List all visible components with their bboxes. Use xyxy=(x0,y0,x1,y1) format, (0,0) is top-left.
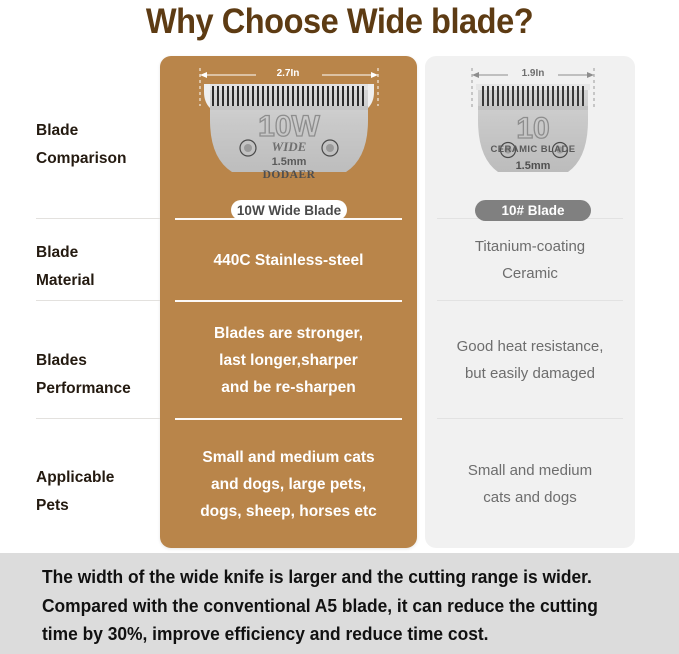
row-separator-gray xyxy=(437,418,623,419)
standard-blade-type-text: CERAMIC BLADE xyxy=(491,144,576,155)
page-title: Why Choose Wide blade? xyxy=(24,2,655,42)
cell-standard-material: Titanium-coating Ceramic xyxy=(425,220,635,300)
cell-wide-material: 440C Stainless-steel xyxy=(160,220,417,300)
cell-standard-performance: Good heat resistance, but easily damaged xyxy=(425,302,635,418)
wide-blade-svg: 10W WIDE 1.5mm DODAER xyxy=(196,62,382,202)
row-separator-gray xyxy=(437,300,623,301)
cell-wide-pets: Small and medium cats and dogs, large pe… xyxy=(160,420,417,548)
wide-blade-image: 10W WIDE 1.5mm DODAER 2.7In xyxy=(196,62,382,202)
standard-blade-size-text: 10 xyxy=(516,112,549,145)
wide-blade-mm-text: 1.5mm xyxy=(272,156,307,168)
infographic-page: Why Choose Wide blade? Blade Comparison … xyxy=(0,0,679,654)
standard-blade-image: 10 CERAMIC BLADE 1.5mm 1.9In xyxy=(468,62,598,202)
row-label-column: Blade Comparison Blade Material Blades P… xyxy=(36,56,160,548)
footer-text: The width of the wide knife is larger an… xyxy=(42,563,606,649)
wide-blade-wide-text: WIDE xyxy=(272,139,307,154)
cell-wide-performance: Blades are stronger, last longer,sharper… xyxy=(160,302,417,418)
wide-blade-brand-text: DODAER xyxy=(263,169,316,181)
footer-band: The width of the wide knife is larger an… xyxy=(0,553,679,654)
standard-blade-svg: 10 CERAMIC BLADE 1.5mm xyxy=(468,62,598,202)
row-label-applicable-pets: Applicable Pets xyxy=(36,461,160,523)
standard-blade-dimension-label: 1.9In xyxy=(509,68,557,79)
wide-blade-dimension-label: 2.7In xyxy=(256,68,320,79)
standard-blade-pill-label: 10# Blade xyxy=(475,200,591,221)
standard-blade-mm-text: 1.5mm xyxy=(516,160,551,172)
row-label-blade-comparison: Blade Comparison xyxy=(36,114,160,176)
row-label-blades-performance: Blades Performance xyxy=(36,344,160,406)
row-label-blade-material: Blade Material xyxy=(36,236,160,298)
comparison-table: Blade Comparison Blade Material Blades P… xyxy=(0,48,679,548)
cell-standard-pets: Small and medium cats and dogs xyxy=(425,420,635,548)
wide-blade-pill-label: 10W Wide Blade xyxy=(231,200,347,220)
